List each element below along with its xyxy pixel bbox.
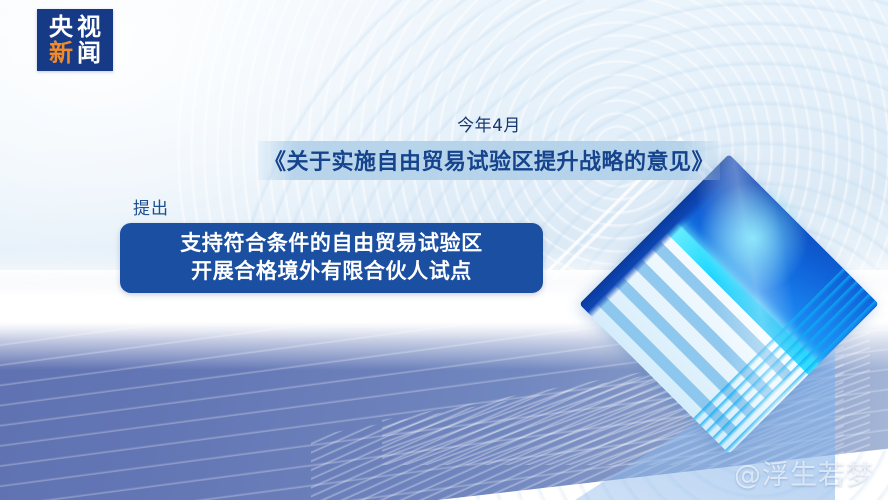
page-title: 《关于实施自由贸易试验区提升战略的意见》 (258, 141, 720, 180)
logo-line-one: 央 视 (47, 15, 103, 39)
callout-line-1: 支持符合条件的自由贸易试验区 (180, 231, 482, 257)
logo-char-xin: 新 (47, 41, 75, 65)
news-graphic-canvas: 央 视 新 闻 今年4月 《关于实施自由贸易试验区提升战略的意见》 提出 支持符… (0, 0, 888, 500)
headline-container: 《关于实施自由贸易试验区提升战略的意见》 (0, 141, 888, 180)
logo-char-shi: 视 (75, 15, 103, 39)
diamond-emblem-group (575, 160, 888, 490)
callout-box: 支持符合条件的自由贸易试验区 开展合格境外有限合伙人试点 (120, 223, 543, 293)
diamond-glow-highlight (693, 178, 813, 298)
logo-char-yang: 央 (47, 15, 75, 39)
cctv-news-logo: 央 视 新 闻 (37, 9, 113, 71)
watermark-text: @浮生若梦 (734, 453, 874, 492)
logo-line-two: 新 闻 (47, 41, 103, 65)
logo-char-wen: 闻 (75, 41, 103, 65)
callout-line-2: 开展合格境外有限合伙人试点 (191, 259, 472, 285)
sub-label: 提出 (133, 194, 169, 219)
kicker-date: 今年4月 (0, 111, 888, 136)
